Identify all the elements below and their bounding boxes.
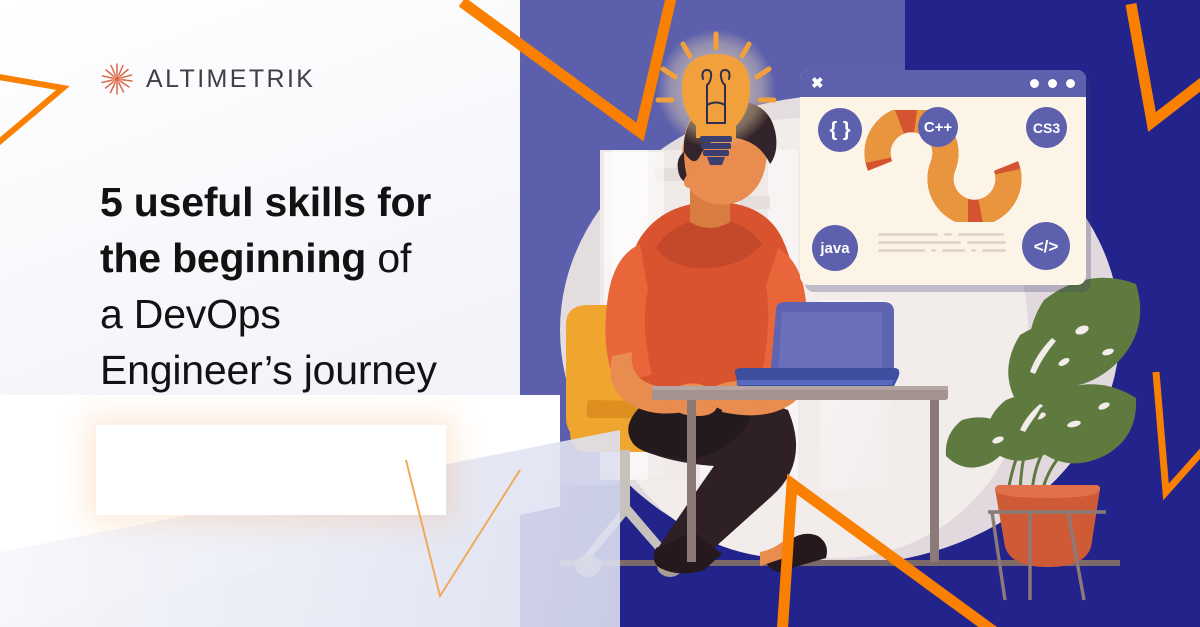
window-dot[interactable]: [1048, 79, 1057, 88]
badge-label: CS3: [1033, 121, 1060, 135]
window-dot[interactable]: [1030, 79, 1039, 88]
wall-brick: [745, 252, 771, 265]
code-line: [878, 233, 938, 236]
badge-cplusplus[interactable]: C++: [918, 107, 958, 147]
code-line-row: [878, 249, 1006, 252]
lightbulb-glow: [657, 30, 775, 148]
code-line: [967, 241, 1006, 244]
close-x-icon[interactable]: ✖: [811, 76, 824, 91]
code-line: [878, 249, 925, 252]
code-placeholder-lines: [878, 233, 1006, 257]
brand-logo[interactable]: ALTIMETRIK: [100, 62, 315, 96]
code-window[interactable]: ✖: [800, 70, 1086, 285]
badge-code-tag[interactable]: </>: [1022, 222, 1070, 270]
headline-line-4: Engineer’s journey: [100, 347, 437, 393]
badge-braces[interactable]: { }: [818, 108, 862, 152]
code-line: [944, 233, 952, 236]
brand-logo-text: ALTIMETRIK: [146, 65, 315, 94]
code-line: [931, 249, 936, 252]
code-line: [958, 233, 1004, 236]
code-line-row: [878, 241, 1006, 244]
wall-light-strip: [768, 150, 798, 480]
code-line: [878, 241, 961, 244]
badge-label: </>: [1034, 238, 1059, 255]
window-dot[interactable]: [1066, 79, 1075, 88]
headline-line-2-bold: the beginning: [100, 235, 366, 281]
badge-cs3[interactable]: CS3: [1026, 107, 1067, 148]
wall-light-strip: [700, 150, 726, 480]
code-line: [971, 249, 976, 252]
banner-root: ✖: [0, 0, 1200, 627]
wall-glass-reflection: [820, 300, 890, 490]
badge-label: C++: [924, 120, 952, 135]
code-line-row: [878, 233, 1006, 236]
headline-line-3: a DevOps: [100, 291, 281, 337]
cta-card[interactable]: [96, 425, 446, 515]
window-dots: [1030, 79, 1075, 88]
badge-label: { }: [829, 120, 850, 140]
headline-line-2-regular: of: [366, 235, 411, 281]
badge-label: java: [820, 241, 849, 256]
badge-java[interactable]: java: [812, 225, 858, 271]
wall-brick: [740, 196, 770, 209]
altimetrik-starburst-icon: [100, 62, 134, 96]
code-line: [982, 249, 1006, 252]
code-window-titlebar: ✖: [800, 70, 1086, 97]
headline-line-1: 5 useful skills for: [100, 179, 431, 225]
wall-glass-reflection: [604, 152, 664, 478]
code-line: [942, 249, 965, 252]
page-title: 5 useful skills for the beginning of a D…: [100, 175, 530, 398]
